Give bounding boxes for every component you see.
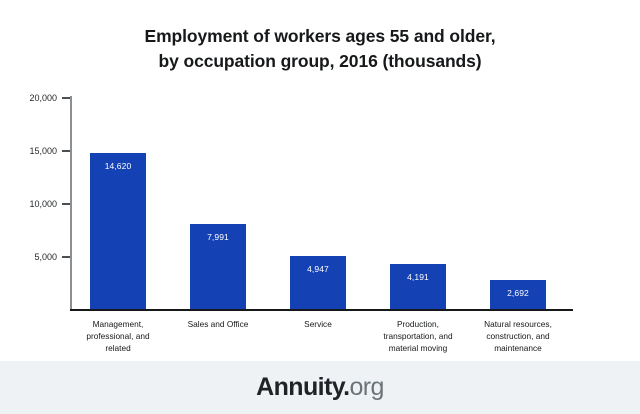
x-label-sales-and-office-line-1: Sales and Office bbox=[188, 319, 249, 329]
logo-tld: org bbox=[350, 373, 384, 401]
x-label-natural-resources: Natural resources, construction, and mai… bbox=[465, 318, 571, 354]
annuity-org-logo[interactable]: Annuity.org bbox=[256, 375, 384, 400]
y-tick-label-10000: 10,000 bbox=[29, 199, 57, 209]
y-tick-10000: 10,000 bbox=[62, 203, 70, 205]
bar-value-production: 4,191 bbox=[390, 272, 446, 282]
bar-sales-and-office[interactable]: 7,991 bbox=[190, 224, 246, 309]
chart-title-line-1: Employment of workers ages 55 and older, bbox=[50, 24, 590, 49]
bar-management[interactable]: 14,620 bbox=[90, 153, 146, 309]
x-axis-category-labels: Management, professional, and related Sa… bbox=[70, 318, 573, 358]
bar-service[interactable]: 4,947 bbox=[290, 256, 346, 309]
bars-layer: 14,620 7,991 4,947 4,191 2,6 bbox=[70, 96, 573, 309]
x-label-management-line-1: Management, bbox=[93, 319, 144, 329]
x-label-production-line-2: transportation, and bbox=[383, 331, 452, 341]
x-label-management-line-3: related bbox=[105, 343, 130, 353]
y-tick-label-20000: 20,000 bbox=[29, 93, 57, 103]
x-axis-baseline bbox=[70, 309, 573, 311]
bar-production[interactable]: 4,191 bbox=[390, 264, 446, 309]
x-label-natural-resources-line-2: construction, and bbox=[486, 331, 549, 341]
bar-value-service: 4,947 bbox=[290, 264, 346, 274]
x-label-production-line-3: material moving bbox=[389, 343, 448, 353]
footer-band: Annuity.org bbox=[0, 361, 640, 414]
y-tick-label-5000: 5,000 bbox=[34, 252, 57, 262]
x-label-natural-resources-line-1: Natural resources, bbox=[484, 319, 552, 329]
chart-title-line-2: by occupation group, 2016 (thousands) bbox=[50, 49, 590, 74]
chart-title: Employment of workers ages 55 and older,… bbox=[0, 24, 640, 75]
y-tick-15000: 15,000 bbox=[62, 150, 70, 152]
infographic-canvas: Employment of workers ages 55 and older,… bbox=[0, 0, 640, 414]
bar-value-sales-and-office: 7,991 bbox=[190, 232, 246, 242]
bar-natural-resources[interactable]: 2,692 bbox=[490, 280, 546, 309]
logo-wordmark: Annuity. bbox=[256, 373, 349, 401]
y-tick-5000: 5,000 bbox=[62, 256, 70, 258]
bar-value-management: 14,620 bbox=[90, 161, 146, 171]
x-label-sales-and-office: Sales and Office bbox=[165, 318, 271, 330]
x-label-service: Service bbox=[265, 318, 371, 330]
plot-area: 20,000 15,000 10,000 5,000 14,620 7,991 bbox=[70, 96, 573, 311]
x-label-service-line-1: Service bbox=[304, 319, 332, 329]
x-label-production-line-1: Production, bbox=[397, 319, 439, 329]
x-label-production: Production, transportation, and material… bbox=[365, 318, 471, 354]
y-tick-label-15000: 15,000 bbox=[29, 146, 57, 156]
bar-value-natural-resources: 2,692 bbox=[490, 288, 546, 298]
x-label-management: Management, professional, and related bbox=[65, 318, 171, 354]
x-label-management-line-2: professional, and bbox=[86, 331, 149, 341]
x-label-natural-resources-line-3: maintenance bbox=[494, 343, 542, 353]
y-tick-20000: 20,000 bbox=[62, 97, 70, 99]
